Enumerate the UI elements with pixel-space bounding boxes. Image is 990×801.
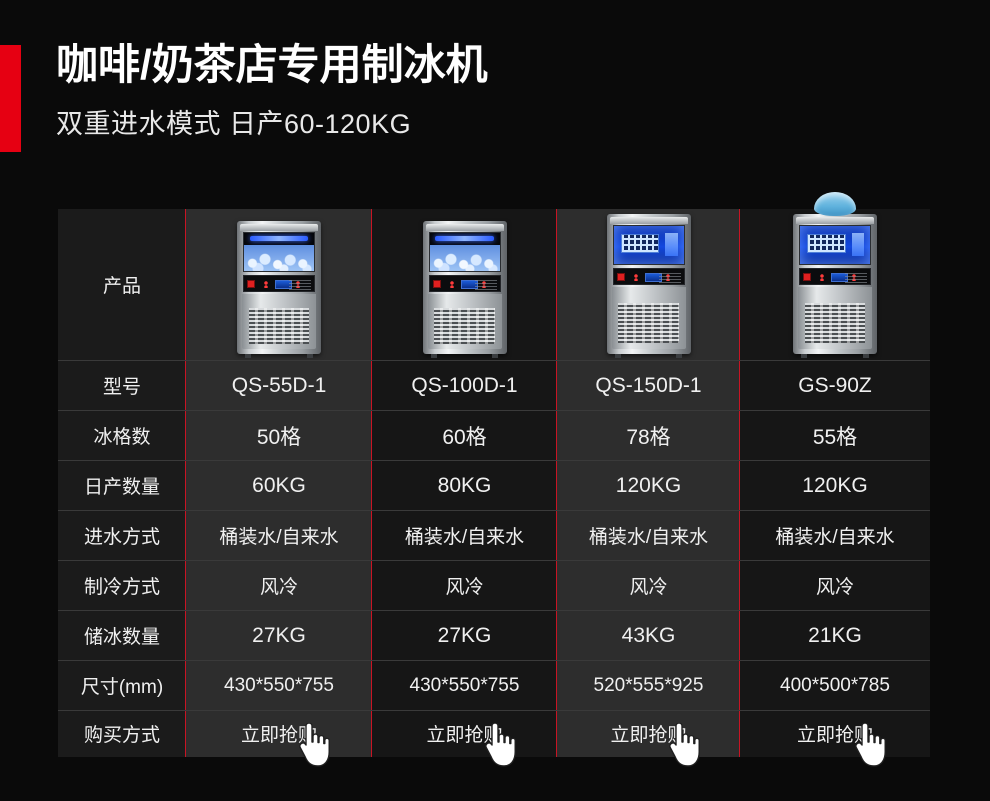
cell-model-2: QS-100D-1 [372, 361, 557, 411]
page-subtitle: 双重进水模式 日产60-120KG [56, 102, 488, 141]
water-bottle-icon [814, 192, 856, 216]
cell-model-4: GS-90Z [740, 361, 930, 411]
table-row-purchase: 购买方式 立即抢购 立即抢购 立即抢购 [58, 711, 930, 757]
table-row-cooling: 制冷方式 风冷 风冷 风冷 风冷 [58, 561, 930, 611]
cell-cooling-1: 风冷 [186, 561, 372, 611]
cell-ice-cells-4: 55格 [740, 411, 930, 461]
table-row-product-image: 产品 [58, 209, 930, 361]
cell-daily-output-3: 120KG [557, 461, 740, 511]
row-label-ice-storage: 储冰数量 [58, 611, 186, 661]
row-label-product: 产品 [58, 209, 186, 361]
cell-ice-cells-2: 60格 [372, 411, 557, 461]
page-header: 咖啡/奶茶店专用制冰机 双重进水模式 日产60-120KG [56, 40, 488, 141]
page-title: 咖啡/奶茶店专用制冰机 [56, 40, 488, 90]
table-row-water-inlet: 进水方式 桶装水/自来水 桶装水/自来水 桶装水/自来水 桶装水/自来水 [58, 511, 930, 561]
row-label-model: 型号 [58, 361, 186, 411]
buy-button-3[interactable]: 立即抢购 [557, 711, 740, 757]
buy-button-label-1: 立即抢购 [241, 725, 317, 746]
ice-machine-qs55d-icon [237, 221, 321, 354]
buy-button-2[interactable]: 立即抢购 [372, 711, 557, 757]
buy-button-label-2: 立即抢购 [426, 725, 502, 746]
row-label-cooling: 制冷方式 [58, 561, 186, 611]
ice-machine-qs150d-icon [607, 214, 691, 354]
cell-ice-storage-1: 27KG [186, 611, 372, 661]
cell-water-inlet-1: 桶装水/自来水 [186, 511, 372, 561]
cell-model-3: QS-150D-1 [557, 361, 740, 411]
buy-button-label-4: 立即抢购 [797, 725, 873, 746]
product-image-cell-1 [186, 209, 372, 361]
buy-button-1[interactable]: 立即抢购 [186, 711, 372, 757]
row-label-water-inlet: 进水方式 [58, 511, 186, 561]
product-spec-page: 咖啡/奶茶店专用制冰机 双重进水模式 日产60-120KG 产品 [0, 0, 990, 801]
ice-machine-gs90z-icon [793, 214, 877, 354]
cell-ice-storage-2: 27KG [372, 611, 557, 661]
cell-dimensions-2: 430*550*755 [372, 661, 557, 711]
cell-ice-storage-3: 43KG [557, 611, 740, 661]
table-row-daily-output: 日产数量 60KG 80KG 120KG 120KG [58, 461, 930, 511]
row-label-daily-output: 日产数量 [58, 461, 186, 511]
ice-machine-qs100d-icon [423, 221, 507, 354]
cell-cooling-2: 风冷 [372, 561, 557, 611]
row-label-ice-cells: 冰格数 [58, 411, 186, 461]
accent-bar [0, 45, 21, 152]
cell-daily-output-1: 60KG [186, 461, 372, 511]
cell-dimensions-4: 400*500*785 [740, 661, 930, 711]
product-image-cell-3 [557, 209, 740, 361]
cell-daily-output-4: 120KG [740, 461, 930, 511]
cell-model-1: QS-55D-1 [186, 361, 372, 411]
product-image-cell-4 [740, 209, 930, 361]
cell-cooling-4: 风冷 [740, 561, 930, 611]
cell-ice-cells-3: 78格 [557, 411, 740, 461]
cell-daily-output-2: 80KG [372, 461, 557, 511]
table-row-dimensions: 尺寸(mm) 430*550*755 430*550*755 520*555*9… [58, 661, 930, 711]
cell-water-inlet-2: 桶装水/自来水 [372, 511, 557, 561]
cell-water-inlet-4: 桶装水/自来水 [740, 511, 930, 561]
table-row-ice-cells: 冰格数 50格 60格 78格 55格 [58, 411, 930, 461]
buy-button-label-3: 立即抢购 [610, 725, 686, 746]
spec-comparison-table: 产品 [58, 209, 930, 757]
cell-ice-cells-1: 50格 [186, 411, 372, 461]
table-row-ice-storage: 储冰数量 27KG 27KG 43KG 21KG [58, 611, 930, 661]
row-label-purchase: 购买方式 [58, 711, 186, 757]
buy-button-4[interactable]: 立即抢购 [740, 711, 930, 757]
product-image-cell-2 [372, 209, 557, 361]
cell-dimensions-1: 430*550*755 [186, 661, 372, 711]
table-row-model: 型号 QS-55D-1 QS-100D-1 QS-150D-1 GS-90Z [58, 361, 930, 411]
row-label-dimensions: 尺寸(mm) [58, 661, 186, 711]
cell-water-inlet-3: 桶装水/自来水 [557, 511, 740, 561]
cell-ice-storage-4: 21KG [740, 611, 930, 661]
cell-dimensions-3: 520*555*925 [557, 661, 740, 711]
cell-cooling-3: 风冷 [557, 561, 740, 611]
